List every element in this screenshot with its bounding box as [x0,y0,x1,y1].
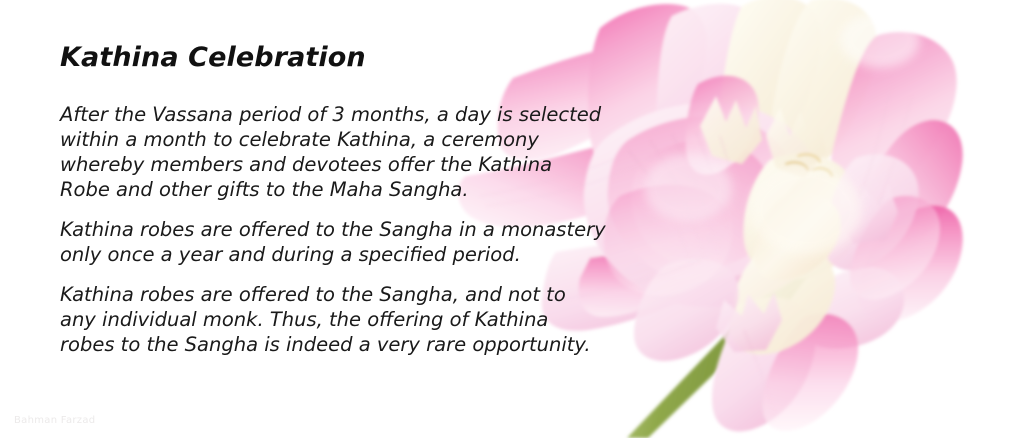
lotus-stem [627,258,812,438]
lotus-highlights [644,12,920,254]
page-title: Kathina Celebration [60,44,620,72]
lotus-inner-petals [604,96,898,352]
body-paragraph-1: After the Vassana period of 3 months, a … [60,102,620,202]
body-paragraph-3: Kathina robes are offered to the Sangha,… [60,282,620,357]
slide-canvas: Kathina Celebration After the Vassana pe… [0,0,1024,438]
slide-text-block: Kathina Celebration After the Vassana pe… [60,44,620,357]
photographer-watermark: Bahman Farzad [14,415,95,426]
body-paragraph-2: Kathina robes are offered to the Sangha … [60,217,620,267]
lotus-mid-petals [584,76,940,361]
